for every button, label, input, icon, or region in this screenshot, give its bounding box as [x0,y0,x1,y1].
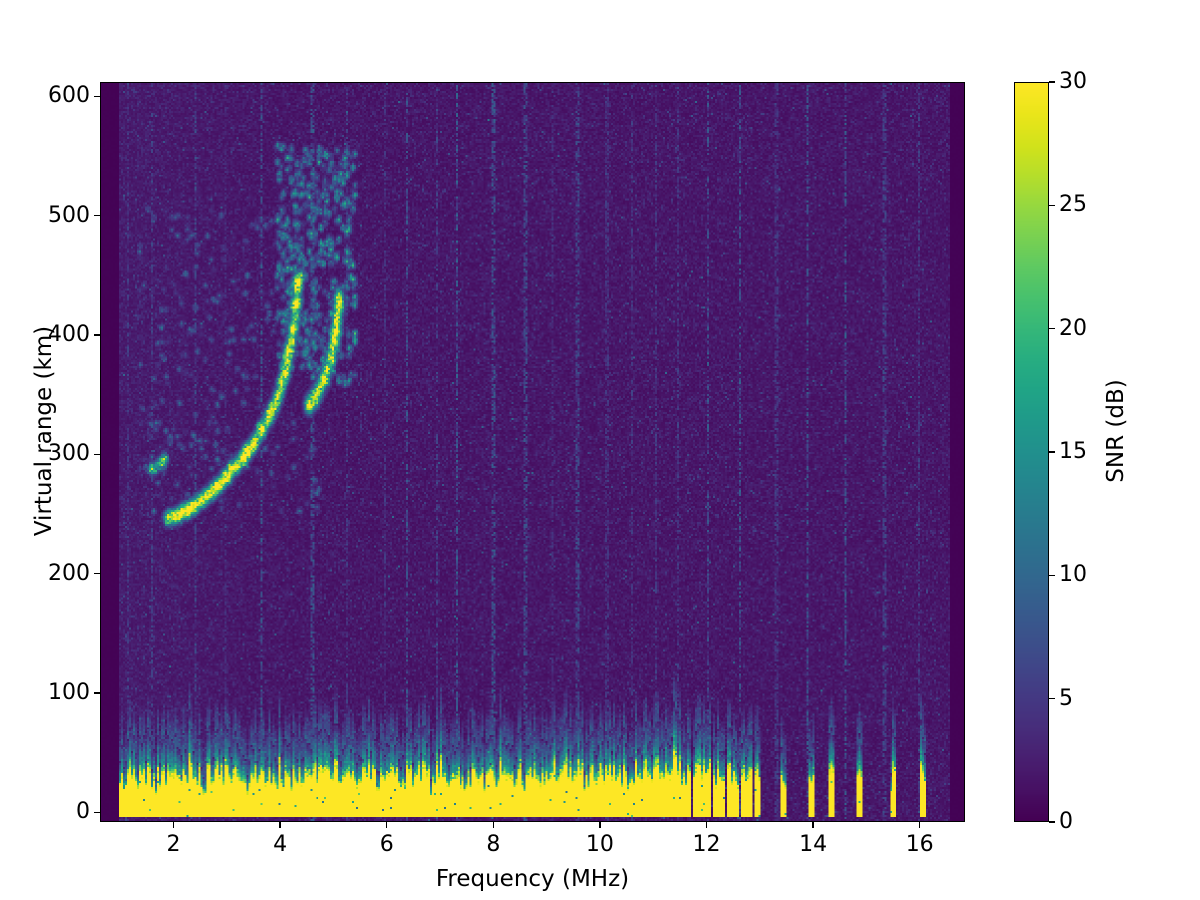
colorbar-label: SNR (dB) [1103,151,1129,711]
x-tick-mark [173,822,174,828]
y-tick-mark [94,454,100,455]
ionogram-heatmap [101,83,964,821]
x-tick-mark [599,822,600,828]
y-tick-mark [94,96,100,97]
x-tick-label: 10 [570,833,630,857]
x-tick-mark [919,822,920,828]
x-tick-label: 4 [250,833,310,857]
colorbar[interactable] [1014,82,1049,822]
colorbar-tick-label: 15 [1059,441,1087,463]
x-tick-label: 2 [144,833,204,857]
colorbar-tick-mark [1049,821,1055,822]
colorbar-tick-label: 10 [1059,564,1087,586]
colorbar-tick-label: 20 [1059,318,1087,340]
colorbar-gradient [1015,83,1048,821]
x-tick-mark [279,822,280,828]
y-tick-mark [94,215,100,216]
x-tick-label: 12 [677,833,737,857]
y-tick-mark [94,573,100,574]
colorbar-tick-mark [1049,575,1055,576]
colorbar-tick-label: 30 [1059,71,1087,93]
colorbar-tick-label: 0 [1059,811,1073,833]
x-tick-label: 6 [357,833,417,857]
x-tick-mark [493,822,494,828]
ionogram-figure: IRF Kiruna Ionosonde KI167 2025-12-05 14… [0,0,1200,900]
colorbar-tick-label: 25 [1059,194,1087,216]
x-tick-mark [706,822,707,828]
y-tick-label: 0 [76,801,90,823]
colorbar-tick-mark [1049,698,1055,699]
colorbar-tick-label: 5 [1059,688,1073,710]
y-axis-label: Virtual range (km) [31,151,57,711]
colorbar-tick-mark [1049,205,1055,206]
y-tick-mark [94,334,100,335]
x-tick-label: 16 [890,833,950,857]
x-axis-label: Frequency (MHz) [100,866,965,892]
y-tick-mark [94,812,100,813]
x-tick-label: 8 [463,833,523,857]
colorbar-tick-mark [1049,81,1055,82]
colorbar-tick-mark [1049,328,1055,329]
x-tick-label: 14 [783,833,843,857]
y-tick-label: 600 [48,85,90,107]
x-tick-mark [812,822,813,828]
x-tick-mark [386,822,387,828]
colorbar-tick-mark [1049,451,1055,452]
y-tick-mark [94,692,100,693]
ionogram-plot-area[interactable] [100,82,965,822]
